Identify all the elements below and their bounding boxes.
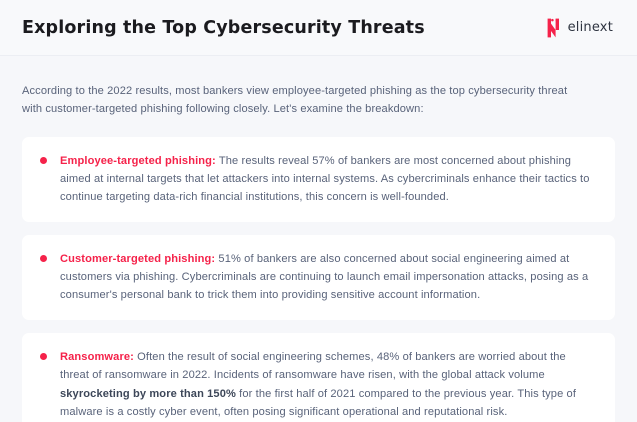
threat-card: Customer-targeted phishing: 51% of banke…: [22, 235, 615, 320]
threat-card-lead: Customer-targeted phishing:: [60, 253, 215, 265]
red-dot-bullet-icon: [40, 157, 47, 164]
threat-card-body: Often the result of social engineering s…: [60, 351, 566, 381]
threat-card: Ransomware: Often the result of social e…: [22, 333, 615, 422]
elinext-n-logomark-icon: [546, 18, 561, 38]
red-dot-bullet-icon: [40, 255, 47, 262]
threat-card: Employee-targeted phishing: The results …: [22, 137, 615, 222]
page-header: Exploring the Top Cybersecurity Threats …: [0, 0, 637, 56]
threat-card-list: Employee-targeted phishing: The results …: [0, 119, 637, 422]
threat-card-lead: Ransomware:: [60, 351, 134, 363]
brand-logo: elinext: [546, 18, 615, 38]
threat-card-text: Ransomware: Often the result of social e…: [60, 348, 593, 420]
red-dot-bullet-icon: [40, 353, 47, 360]
threat-card-text: Customer-targeted phishing: 51% of banke…: [60, 250, 593, 304]
threat-card-lead: Employee-targeted phishing:: [60, 155, 216, 167]
page-title: Exploring the Top Cybersecurity Threats: [22, 18, 425, 38]
threat-card-emphasis: skyrocketing by more than 150%: [60, 388, 236, 400]
intro-paragraph: According to the 2022 results, most bank…: [22, 83, 580, 119]
page-root: Exploring the Top Cybersecurity Threats …: [0, 0, 637, 422]
intro-section: According to the 2022 results, most bank…: [0, 56, 637, 119]
brand-name: elinext: [568, 20, 613, 35]
threat-card-text: Employee-targeted phishing: The results …: [60, 152, 593, 206]
